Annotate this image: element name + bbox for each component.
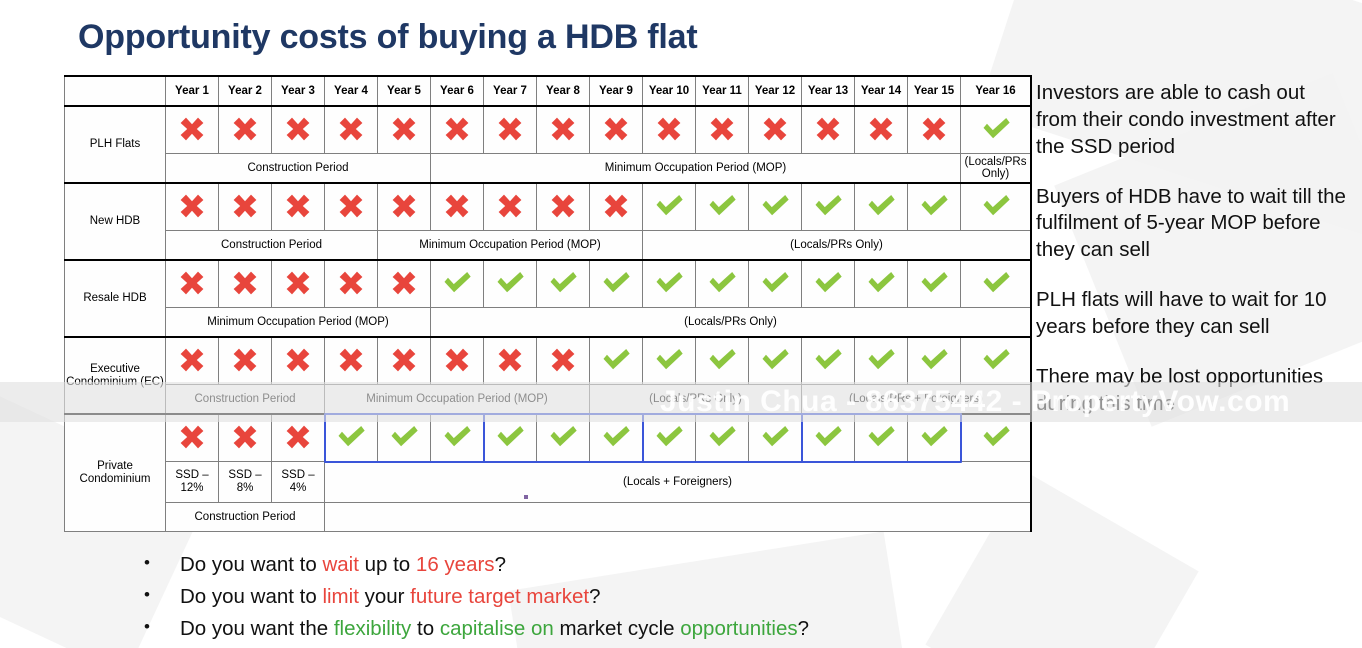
band-r5-1: SSD – 12% [166,462,219,503]
cell-r3-y15 [908,260,961,308]
bullet-text: Do you want the flexibility to capitalis… [180,613,809,645]
cell-r4-y11 [696,337,749,385]
check-icon [547,268,579,298]
bullet-item-1: •Do you want to wait up to 16 years? [144,549,1044,581]
cross-icon [230,114,260,144]
cross-icon [707,114,737,144]
check-icon [980,191,1012,221]
cross-icon [495,345,525,375]
year-header-13: Year 13 [802,76,855,106]
check-icon [335,422,367,452]
table-band-row-secondary: Construction Period [65,503,1032,532]
cell-r4-y4 [325,337,378,385]
cell-r3-y10 [643,260,696,308]
side-note-2: Buyers of HDB have to wait till the fulf… [1036,184,1348,265]
check-icon [980,345,1012,375]
band-r2-2: Minimum Occupation Period (MOP) [378,231,643,261]
cell-r1-y5 [378,106,431,154]
year-header-4: Year 4 [325,76,378,106]
band-r2-1: Construction Period [166,231,378,261]
check-icon [494,422,526,452]
cell-r3-y14 [855,260,908,308]
band-r5-4: (Locals + Foreigners) [325,462,1032,503]
cell-r5-y13 [802,414,855,462]
year-header-16: Year 16 [961,76,1032,106]
row-label-2: New HDB [65,183,166,260]
table-band-row: SSD – 12%SSD – 8%SSD – 4%(Locals + Forei… [65,462,1032,503]
cell-r5-y15 [908,414,961,462]
check-icon [653,345,685,375]
cell-r5-y11 [696,414,749,462]
cell-r3-y13 [802,260,855,308]
cell-r5-y6 [431,414,484,462]
check-icon [706,345,738,375]
cross-icon [389,268,419,298]
check-icon [865,191,897,221]
cross-icon [336,191,366,221]
cell-r3-y16 [961,260,1032,308]
cell-r2-y13 [802,183,855,231]
check-icon [706,191,738,221]
year-header-7: Year 7 [484,76,537,106]
check-icon [706,268,738,298]
year-header-11: Year 11 [696,76,749,106]
cell-r5-y10 [643,414,696,462]
cross-icon [336,114,366,144]
cell-r4-y13 [802,337,855,385]
band-r2-3: (Locals/PRs Only) [643,231,1032,261]
bullet-marker: • [144,581,180,610]
cross-icon [919,114,949,144]
cell-r5-y2 [219,414,272,462]
band-r5-2: SSD – 8% [219,462,272,503]
cell-r4-y2 [219,337,272,385]
page-title: Opportunity costs of buying a HDB flat [78,18,698,57]
cross-icon [283,114,313,144]
cross-icon [442,345,472,375]
check-icon [759,345,791,375]
check-icon [547,422,579,452]
cell-r2-y10 [643,183,696,231]
cell-r3-y5 [378,260,431,308]
band-r3-1: Minimum Occupation Period (MOP) [166,308,431,338]
band2-r5-2 [325,503,1032,532]
year-header-10: Year 10 [643,76,696,106]
cell-r3-y7 [484,260,537,308]
cell-r5-y12 [749,414,802,462]
cell-r2-y1 [166,183,219,231]
bullet-text: Do you want to limit your future target … [180,581,600,613]
cross-icon [230,422,260,452]
cell-r1-y11 [696,106,749,154]
cell-r4-y12 [749,337,802,385]
cross-icon [177,268,207,298]
row-label-3: Resale HDB [65,260,166,337]
cross-icon [866,114,896,144]
cross-icon [495,114,525,144]
row-label-1: PLH Flats [65,106,166,183]
band-r1-2: Minimum Occupation Period (MOP) [431,154,961,184]
cell-r1-y8 [537,106,590,154]
cell-r5-y1 [166,414,219,462]
cell-r2-y3 [272,183,325,231]
check-icon [812,268,844,298]
check-icon [918,422,950,452]
band-r4-4: (Locals/PRs + Foreigners) [802,385,1032,415]
cell-r4-y7 [484,337,537,385]
year-header-1: Year 1 [166,76,219,106]
bullet-item-2: •Do you want to limit your future target… [144,581,1044,613]
check-icon [653,268,685,298]
cross-icon [389,114,419,144]
cell-r2-y12 [749,183,802,231]
cell-r4-y3 [272,337,325,385]
opportunity-cost-table: Year 1Year 2Year 3Year 4Year 5Year 6Year… [64,75,1032,532]
check-icon [812,422,844,452]
cell-r4-y9 [590,337,643,385]
check-icon [600,422,632,452]
table-row: Private Condominium [65,414,1032,462]
cell-r5-y8 [537,414,590,462]
cell-r1-y9 [590,106,643,154]
cell-r1-y15 [908,106,961,154]
cell-r4-y16 [961,337,1032,385]
cell-r3-y9 [590,260,643,308]
check-icon [388,422,420,452]
cross-icon [601,114,631,144]
cell-r2-y6 [431,183,484,231]
cell-r1-y14 [855,106,908,154]
year-header-8: Year 8 [537,76,590,106]
cross-icon [230,268,260,298]
check-icon [812,191,844,221]
cell-r4-y10 [643,337,696,385]
cell-r1-y13 [802,106,855,154]
cell-r3-y6 [431,260,484,308]
band2-r5-1: Construction Period [166,503,325,532]
cell-r5-y3 [272,414,325,462]
cell-r2-y2 [219,183,272,231]
cell-r2-y7 [484,183,537,231]
side-note-4: There may be lost opportunities during t… [1036,364,1348,418]
check-icon [865,422,897,452]
table-header-row: Year 1Year 2Year 3Year 4Year 5Year 6Year… [65,76,1032,106]
cross-icon [283,268,313,298]
cell-r5-y14 [855,414,908,462]
check-icon [759,191,791,221]
check-icon [653,191,685,221]
cross-icon [177,345,207,375]
cross-icon [283,345,313,375]
band-r4-1: Construction Period [166,385,325,415]
year-header-12: Year 12 [749,76,802,106]
cell-r3-y4 [325,260,378,308]
cell-r1-y10 [643,106,696,154]
year-header-15: Year 15 [908,76,961,106]
check-icon [706,422,738,452]
table-corner-cell [65,76,166,106]
check-icon [980,114,1012,144]
side-note-1: Investors are able to cash out from thei… [1036,80,1348,161]
row-label-4: Executive Condominium (EC) [65,337,166,414]
cell-r2-y8 [537,183,590,231]
cell-r1-y12 [749,106,802,154]
cross-icon [230,191,260,221]
check-icon [918,345,950,375]
row-label-5: Private Condominium [65,414,166,532]
cell-r3-y12 [749,260,802,308]
band-r1-1: Construction Period [166,154,431,184]
cell-r1-y7 [484,106,537,154]
check-icon [812,345,844,375]
band-r1-3: (Locals/PRs Only) [961,154,1032,184]
cross-icon [177,422,207,452]
check-icon [600,345,632,375]
cell-r3-y2 [219,260,272,308]
year-header-2: Year 2 [219,76,272,106]
cross-icon [760,114,790,144]
cell-r5-y4 [325,414,378,462]
check-icon [865,268,897,298]
side-notes: Investors are able to cash out from thei… [1036,80,1348,440]
cross-icon [813,114,843,144]
cross-icon [548,114,578,144]
check-icon [441,422,473,452]
bullet-list: •Do you want to wait up to 16 years?•Do … [144,549,1044,644]
table-band-row: Construction PeriodMinimum Occupation Pe… [65,385,1032,415]
cell-r3-y8 [537,260,590,308]
cell-r3-y3 [272,260,325,308]
cell-r5-y9 [590,414,643,462]
cross-icon [601,191,631,221]
cross-icon [389,345,419,375]
bullet-item-3: •Do you want the flexibility to capitali… [144,613,1044,645]
cell-r3-y11 [696,260,749,308]
year-header-3: Year 3 [272,76,325,106]
cell-r4-y6 [431,337,484,385]
cell-r2-y9 [590,183,643,231]
cross-icon [336,268,366,298]
year-header-9: Year 9 [590,76,643,106]
table-row: Executive Condominium (EC) [65,337,1032,385]
cross-icon [177,191,207,221]
cross-icon [283,422,313,452]
cell-r3-y1 [166,260,219,308]
cross-icon [654,114,684,144]
check-icon [918,191,950,221]
check-icon [600,268,632,298]
bullet-marker: • [144,613,180,642]
cell-r4-y8 [537,337,590,385]
stray-dot [524,495,528,499]
cross-icon [389,191,419,221]
cell-r4-y15 [908,337,961,385]
cell-r5-y7 [484,414,537,462]
cell-r1-y16 [961,106,1032,154]
cell-r2-y5 [378,183,431,231]
cell-r1-y6 [431,106,484,154]
cell-r1-y4 [325,106,378,154]
band-r4-2: Minimum Occupation Period (MOP) [325,385,590,415]
cross-icon [495,191,525,221]
table-band-row: Construction PeriodMinimum Occupation Pe… [65,154,1032,184]
cell-r2-y14 [855,183,908,231]
check-icon [980,422,1012,452]
bullet-text: Do you want to wait up to 16 years? [180,549,506,581]
band-r5-3: SSD – 4% [272,462,325,503]
cross-icon [442,114,472,144]
cross-icon [177,114,207,144]
table-row: Resale HDB [65,260,1032,308]
year-header-5: Year 5 [378,76,431,106]
year-header-14: Year 14 [855,76,908,106]
cell-r2-y15 [908,183,961,231]
table-row: PLH Flats [65,106,1032,154]
cell-r5-y5 [378,414,431,462]
cell-r1-y2 [219,106,272,154]
check-icon [441,268,473,298]
cell-r2-y4 [325,183,378,231]
cell-r4-y14 [855,337,908,385]
cell-r1-y1 [166,106,219,154]
cell-r2-y11 [696,183,749,231]
check-icon [759,422,791,452]
check-icon [918,268,950,298]
cross-icon [336,345,366,375]
cross-icon [230,345,260,375]
check-icon [494,268,526,298]
cross-icon [283,191,313,221]
cell-r1-y3 [272,106,325,154]
opportunity-cost-table-wrapper: Year 1Year 2Year 3Year 4Year 5Year 6Year… [64,75,1032,532]
table-row: New HDB [65,183,1032,231]
cross-icon [548,345,578,375]
cell-r4-y5 [378,337,431,385]
table-band-row: Construction PeriodMinimum Occupation Pe… [65,231,1032,261]
check-icon [759,268,791,298]
cross-icon [548,191,578,221]
check-icon [865,345,897,375]
check-icon [653,422,685,452]
band-r3-2: (Locals/PRs Only) [431,308,1032,338]
side-note-3: PLH flats will have to wait for 10 years… [1036,287,1348,341]
band-r4-3: (Locals/PRs Only) [590,385,802,415]
cell-r2-y16 [961,183,1032,231]
year-header-6: Year 6 [431,76,484,106]
cross-icon [442,191,472,221]
cell-r5-y16 [961,414,1032,462]
table-band-row: Minimum Occupation Period (MOP)(Locals/P… [65,308,1032,338]
cell-r4-y1 [166,337,219,385]
check-icon [980,268,1012,298]
bullet-marker: • [144,549,180,578]
